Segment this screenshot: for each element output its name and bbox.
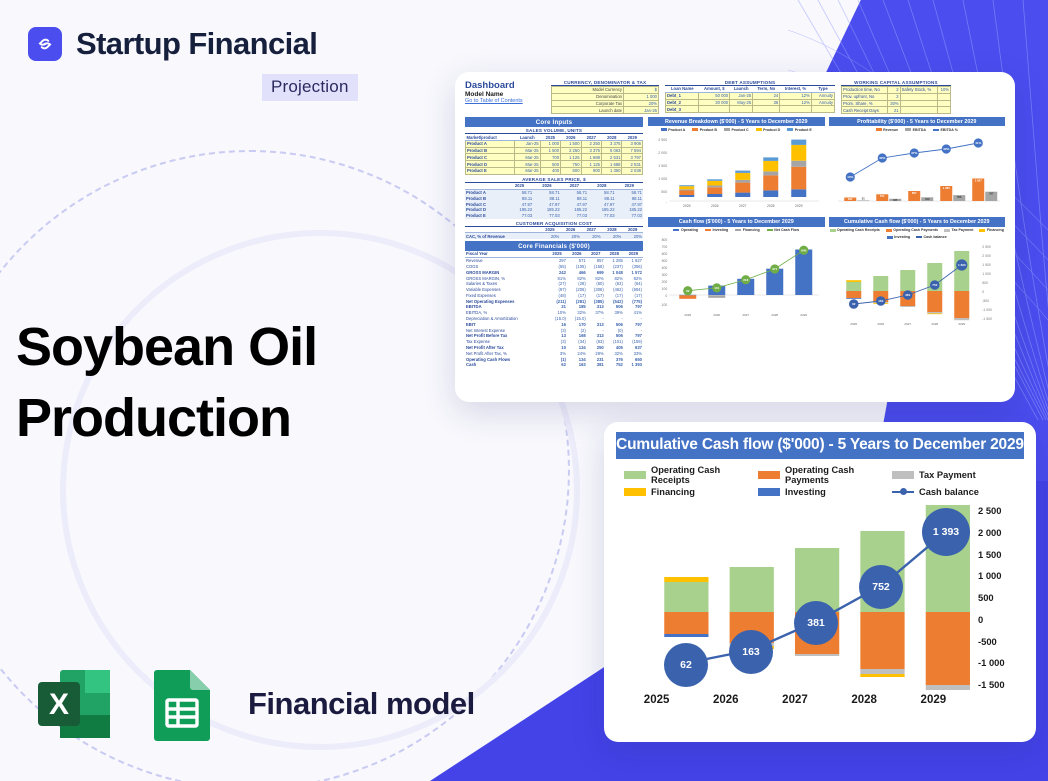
chart-legend-cumulative-cash-flow: Operating Cash Receipts Operating Cash P… bbox=[829, 227, 1006, 241]
legend-item-tax-payment: Tax Payment bbox=[892, 465, 1020, 485]
debt-cell[interactable]: Debt_1 bbox=[666, 92, 699, 99]
svg-text:2 500: 2 500 bbox=[658, 138, 667, 142]
chart-title-cumulative-cash-flow: Cumulative Cash flow ($'000) - 5 Years t… bbox=[829, 217, 1006, 226]
table-cell[interactable]: 77.03 bbox=[588, 213, 615, 219]
table-row[interactable]: CAC, % of Revenue 20% 20% 20% 20% 20% bbox=[465, 233, 643, 239]
legend-item-financing: Financing bbox=[624, 487, 752, 497]
debt-cell[interactable]: Debt_3 bbox=[666, 106, 699, 113]
table-cell[interactable]: Product B bbox=[466, 147, 515, 154]
table-cell[interactable]: 500 bbox=[540, 161, 560, 168]
table-cell[interactable]: 381 bbox=[587, 362, 605, 368]
svg-text:2026: 2026 bbox=[711, 204, 719, 208]
legend-item-cash-balance: Cash balance bbox=[892, 487, 1020, 497]
legend-label: Tax Payment bbox=[952, 228, 974, 232]
wc-row-value[interactable]: 21 bbox=[887, 107, 900, 114]
svg-text:500: 500 bbox=[661, 190, 667, 194]
wc-extra-value[interactable]: 10% bbox=[937, 87, 950, 94]
table-cell[interactable]: 1 125 bbox=[581, 161, 601, 168]
svg-text:-: - bbox=[666, 200, 668, 204]
svg-text:62: 62 bbox=[686, 288, 690, 292]
svg-text:1 393: 1 393 bbox=[957, 263, 965, 267]
cash-balance-bubble-2029: 1 393 bbox=[922, 508, 970, 556]
currency-row-value[interactable]: 20% bbox=[624, 100, 659, 107]
svg-text:700: 700 bbox=[662, 245, 668, 249]
table-cell[interactable]: 77.03 bbox=[561, 213, 588, 219]
svg-text:2027: 2027 bbox=[739, 204, 747, 208]
legend-label: Financing bbox=[987, 228, 1004, 232]
svg-text:218: 218 bbox=[743, 277, 748, 281]
google-sheets-icon bbox=[136, 660, 224, 748]
table-cell[interactable]: 750 bbox=[561, 161, 581, 168]
working-capital-table[interactable]: Production time, No2Safety Stock, %10% P… bbox=[841, 86, 951, 114]
table-cell[interactable]: 1 500 bbox=[561, 140, 581, 147]
svg-text:2029: 2029 bbox=[958, 322, 965, 326]
svg-text:10%: 10% bbox=[847, 176, 853, 180]
brand-name: Startup Financial bbox=[76, 26, 317, 62]
legend-item-operating-cash-receipts: Operating Cash Receipts bbox=[624, 465, 752, 485]
svg-text:506: 506 bbox=[957, 195, 962, 199]
core-financials-table[interactable]: Fiscal Year 2025 2026 2027 2028 2029 Rev… bbox=[465, 251, 643, 368]
chart-plot-cash-flow: 800700600 500400300 2001000-100 bbox=[648, 234, 825, 325]
currency-row-value[interactable]: 1 000 bbox=[624, 93, 659, 100]
svg-text:2 000: 2 000 bbox=[982, 254, 991, 258]
file-format-row: X Financial model bbox=[30, 660, 475, 748]
wc-extra-label: Safety Stock, % bbox=[900, 87, 937, 94]
bubble-value: 381 bbox=[807, 617, 825, 629]
debt-cell[interactable]: 12% bbox=[780, 92, 812, 99]
cac-table[interactable]: 2025 2026 2027 2028 2029 CAC, % of Reven… bbox=[465, 227, 643, 240]
currency-assumptions-table[interactable]: Model Currency$ Denomination1 000 Corpor… bbox=[551, 86, 659, 114]
chart-legend-cash-flow: Operating Investing Financing Net Cash F… bbox=[648, 227, 825, 234]
table-cell[interactable]: 752 bbox=[605, 362, 624, 368]
y-tick: 0 bbox=[978, 614, 1022, 625]
cac-label: CAC, % of Revenue bbox=[465, 233, 540, 239]
svg-text:2027: 2027 bbox=[904, 322, 911, 326]
average-price-table[interactable]: 2025 2026 2027 2028 2029 Product A58.715… bbox=[465, 183, 643, 219]
chart-title-cash-flow: Cash flow ($'000) - 5 Years to December … bbox=[648, 217, 825, 226]
table-cell[interactable]: 3 906 bbox=[622, 140, 643, 147]
page-title-line1: Soybean Oil bbox=[16, 312, 317, 383]
wc-row-label: Cash Receipt Days bbox=[842, 107, 888, 114]
x-tick: 2027 bbox=[782, 694, 808, 706]
svg-text:2025: 2025 bbox=[683, 204, 691, 208]
debt-cell[interactable]: 36 bbox=[753, 99, 780, 106]
svg-text:1 285: 1 285 bbox=[942, 186, 949, 190]
debt-cell[interactable] bbox=[699, 106, 730, 113]
wc-row-label: Prov. upfront, No bbox=[842, 93, 888, 100]
svg-text:640: 640 bbox=[801, 248, 806, 252]
table-cell[interactable]: 1 500 bbox=[540, 147, 560, 154]
x-tick: 2025 bbox=[644, 694, 670, 706]
y-tick: -1 000 bbox=[978, 657, 1022, 668]
legend-label: Cash balance bbox=[924, 235, 947, 239]
legend-label: Operating bbox=[681, 228, 698, 232]
svg-text:37%: 37% bbox=[911, 152, 917, 156]
svg-text:297: 297 bbox=[847, 197, 852, 201]
table-cell[interactable]: Product E bbox=[465, 213, 506, 219]
cac-cell[interactable]: 20% bbox=[581, 233, 602, 239]
legend-label: EBITDA % bbox=[940, 128, 957, 132]
svg-text:1 500: 1 500 bbox=[658, 164, 667, 168]
svg-text:2 500: 2 500 bbox=[982, 245, 991, 249]
svg-text:500: 500 bbox=[982, 281, 988, 285]
table-row[interactable]: Product AJan-251 0001 5002 2503 3753 906 bbox=[466, 140, 643, 147]
table-cell[interactable]: Product C bbox=[466, 154, 515, 161]
cashflow-x-axis: 2025 2026 2027 2028 2029 bbox=[622, 694, 968, 706]
table-row[interactable]: Product BMar-251 5002 2503 3755 0637 594 bbox=[466, 147, 643, 154]
table-cell[interactable]: 77.03 bbox=[506, 213, 533, 219]
currency-row-label: Corporate Tax bbox=[552, 100, 624, 107]
chart-plot-revenue-breakdown: 2 5002 0001 500 1 000500- bbox=[648, 133, 825, 214]
y-tick: -500 bbox=[978, 636, 1022, 647]
chart-plot-profitability: 10%32%37% 39%41% 297571857 1 2851 927 31… bbox=[829, 133, 1006, 214]
y-tick: -1 500 bbox=[978, 679, 1022, 690]
table-row[interactable]: Product EMar-254006009001 3502 038 bbox=[466, 168, 643, 175]
debt-cell[interactable]: 50 000 bbox=[699, 92, 730, 99]
table-cell[interactable]: 5 063 bbox=[602, 147, 622, 154]
cashflow-chart-legend: Operating Cash Receipts Operating Cash P… bbox=[616, 459, 1024, 499]
cumulative-cashflow-card[interactable]: Cumulative Cash flow ($'000) - 5 Years t… bbox=[604, 422, 1036, 742]
table-cell[interactable]: 2 531 bbox=[602, 154, 622, 161]
currency-row-label: Model Currency bbox=[552, 87, 624, 94]
x-tick: 2026 bbox=[713, 694, 739, 706]
legend-item-investing: Investing bbox=[758, 487, 886, 497]
svg-text:31: 31 bbox=[861, 197, 864, 201]
table-cell[interactable]: Cash bbox=[465, 362, 547, 368]
legend-label: Tax Payment bbox=[919, 470, 976, 480]
svg-text:2 000: 2 000 bbox=[658, 151, 667, 155]
legend-label: Cash balance bbox=[919, 487, 979, 497]
svg-text:100: 100 bbox=[662, 287, 668, 291]
table-row[interactable]: Cash621633817521 393 bbox=[465, 362, 643, 368]
table-cell[interactable]: 163 bbox=[567, 362, 587, 368]
svg-text:381: 381 bbox=[905, 293, 910, 297]
legend-label: EBITDA bbox=[913, 128, 926, 132]
svg-text:200: 200 bbox=[662, 280, 668, 284]
cac-cell[interactable]: 20% bbox=[602, 233, 623, 239]
table-cell[interactable]: 3 797 bbox=[622, 154, 643, 161]
table-cell[interactable]: 2 038 bbox=[622, 168, 643, 175]
legend-label: Product B bbox=[700, 128, 717, 132]
svg-text:X: X bbox=[49, 688, 69, 721]
svg-text:400: 400 bbox=[662, 266, 668, 270]
svg-text:300: 300 bbox=[662, 273, 668, 277]
dashboard-title: Dashboard bbox=[465, 80, 545, 91]
sales-volume-table[interactable]: Market/product Launch 2025 2026 2027 202… bbox=[465, 134, 643, 175]
cash-balance-bubble-2028: 752 bbox=[859, 565, 903, 609]
table-cell[interactable]: 2 250 bbox=[561, 147, 581, 154]
currency-row-value[interactable]: Jan-25 bbox=[624, 107, 659, 114]
svg-text:2025: 2025 bbox=[850, 322, 857, 326]
legend-label: Product A bbox=[668, 128, 685, 132]
table-cell[interactable]: 1 125 bbox=[561, 154, 581, 161]
table-cell[interactable]: Product A bbox=[466, 140, 515, 147]
table-cell[interactable]: 700 bbox=[540, 154, 560, 161]
svg-text:571: 571 bbox=[879, 194, 884, 198]
svg-text:2027: 2027 bbox=[742, 313, 749, 317]
chart-legend-revenue-breakdown: Product A Product B Product C Product D … bbox=[648, 126, 825, 133]
page-title-line2: Production bbox=[16, 383, 317, 454]
core-inputs-band: Core Inputs bbox=[465, 117, 643, 127]
debt-cell[interactable]: Annuity bbox=[811, 92, 834, 99]
svg-text:2028: 2028 bbox=[931, 322, 938, 326]
table-row[interactable]: Product CMar-257001 1251 6882 5313 797 bbox=[466, 154, 643, 161]
table-row[interactable]: Product DMar-255007501 1251 6882 531 bbox=[466, 161, 643, 168]
chart-title-revenue-breakdown: Revenue Breakdown ($'000) - 5 Years to D… bbox=[648, 117, 825, 126]
table-cell[interactable]: Mar-25 bbox=[514, 154, 540, 161]
svg-text:39%: 39% bbox=[943, 148, 949, 152]
table-row[interactable]: Debt_1 50 000 Jan-25 24 12% Annuity bbox=[666, 92, 835, 99]
svg-text:163: 163 bbox=[878, 299, 883, 303]
table-cell[interactable]: 1 393 bbox=[624, 362, 643, 368]
table-cell[interactable]: 62 bbox=[547, 362, 567, 368]
legend-label: Operating Cash Payments bbox=[785, 465, 886, 485]
wc-row-label: Prom. Share, % bbox=[842, 100, 888, 107]
legend-label: Net Cash Flow bbox=[774, 228, 799, 232]
svg-text:-100: -100 bbox=[660, 303, 667, 307]
svg-text:2028: 2028 bbox=[767, 204, 775, 208]
cac-cell[interactable]: 20% bbox=[560, 233, 581, 239]
page-title: Soybean Oil Production bbox=[16, 312, 317, 455]
wc-row-value[interactable]: 30% bbox=[887, 100, 900, 107]
debt-cell[interactable] bbox=[811, 106, 834, 113]
svg-text:857: 857 bbox=[911, 191, 916, 195]
y-tick: 2 500 bbox=[978, 505, 1022, 516]
svg-text:1 927: 1 927 bbox=[974, 179, 981, 183]
svg-text:371: 371 bbox=[772, 267, 777, 271]
legend-label: Operating Cash Receipts bbox=[837, 228, 880, 232]
debt-cell[interactable] bbox=[780, 106, 812, 113]
table-cell[interactable]: 3 375 bbox=[581, 147, 601, 154]
bubble-value: 163 bbox=[742, 646, 760, 658]
table-cell[interactable]: 600 bbox=[561, 168, 581, 175]
svg-text:2029: 2029 bbox=[795, 204, 803, 208]
table-cell[interactable]: 2 531 bbox=[622, 161, 643, 168]
debt-cell[interactable]: 30 000 bbox=[699, 99, 730, 106]
svg-text:62: 62 bbox=[852, 302, 856, 306]
chart-legend-profitability: Revenue EBITDA EBITDA % bbox=[829, 126, 1006, 133]
legend-label: Operating Cash Payments bbox=[893, 228, 938, 232]
chart-title-profitability: Profitability ($'000) - 5 Years to Decem… bbox=[829, 117, 1006, 126]
legend-label: Product E bbox=[795, 128, 812, 132]
table-row[interactable]: Debt_2 30 000 May-25 36 12% Annuity bbox=[666, 99, 835, 106]
cac-cell[interactable]: 20% bbox=[622, 233, 643, 239]
debt-cell[interactable]: Debt_2 bbox=[666, 99, 699, 106]
table-cell[interactable]: 1 688 bbox=[602, 161, 622, 168]
svg-text:0: 0 bbox=[665, 294, 667, 298]
legend-label: Investing bbox=[894, 235, 910, 239]
svg-text:1 000: 1 000 bbox=[982, 272, 991, 276]
svg-text:101: 101 bbox=[714, 286, 719, 290]
table-cell[interactable]: Product D bbox=[466, 161, 515, 168]
file-format-label: Financial model bbox=[248, 686, 475, 722]
bubble-value: 752 bbox=[872, 581, 890, 593]
wc-row-value[interactable]: 2 bbox=[887, 87, 900, 94]
table-cell[interactable]: 900 bbox=[581, 168, 601, 175]
legend-label: Financing bbox=[743, 228, 760, 232]
legend-label: Revenue bbox=[883, 128, 898, 132]
brand-logo: Startup Financial bbox=[28, 26, 317, 62]
table-cell[interactable]: 3 375 bbox=[602, 140, 622, 147]
table-cell[interactable]: Mar-25 bbox=[514, 147, 540, 154]
legend-item-operating-cash-payments: Operating Cash Payments bbox=[758, 465, 886, 485]
debt-assumptions-table[interactable]: Loan Name Amount, $ Launch Term, No Inte… bbox=[665, 86, 835, 113]
table-cell[interactable]: Mar-25 bbox=[514, 168, 540, 175]
legend-label: Product C bbox=[731, 128, 748, 132]
table-cell[interactable]: 77.03 bbox=[616, 213, 643, 219]
table-cell[interactable]: Mar-25 bbox=[514, 161, 540, 168]
toc-link[interactable]: Go to Table of Contents bbox=[465, 98, 545, 104]
svg-text:-500: -500 bbox=[982, 299, 989, 303]
table-cell[interactable]: 1 350 bbox=[602, 168, 622, 175]
excel-icon: X bbox=[30, 660, 118, 748]
debt-cell[interactable]: Annuity bbox=[811, 99, 834, 106]
table-cell[interactable]: 400 bbox=[540, 168, 560, 175]
currency-row-label: Denomination bbox=[552, 93, 624, 100]
bubble-value: 1 393 bbox=[933, 526, 959, 538]
svg-text:2025: 2025 bbox=[684, 313, 691, 317]
svg-text:2029: 2029 bbox=[800, 313, 807, 317]
svg-text:313: 313 bbox=[925, 197, 930, 201]
chart-plot-cumulative-cash-flow: 2 5002 0001 500 1 0005000 -500-1 000-1 5… bbox=[829, 241, 1006, 332]
svg-text:500: 500 bbox=[662, 259, 668, 263]
svg-text:800: 800 bbox=[662, 238, 668, 242]
dashboard-preview-card[interactable]: Dashboard Model Name Go to Table of Cont… bbox=[455, 72, 1015, 402]
svg-text:1 000: 1 000 bbox=[658, 177, 667, 181]
cashflow-chart-title: Cumulative Cash flow ($'000) - 5 Years t… bbox=[616, 432, 1024, 459]
svg-text:1 500: 1 500 bbox=[982, 263, 991, 267]
table-cell[interactable]: 1 688 bbox=[581, 154, 601, 161]
table-row[interactable]: Debt_3 bbox=[666, 106, 835, 113]
svg-text:185: 185 bbox=[893, 199, 898, 203]
debt-cell[interactable]: 12% bbox=[780, 99, 812, 106]
legend-label: Operating Cash Receipts bbox=[651, 465, 752, 485]
svg-text:-1 500: -1 500 bbox=[982, 317, 992, 321]
cashflow-plot-area: 62 163 381 752 1 393 2 500 2 000 1 500 1… bbox=[622, 505, 1022, 690]
svg-text:32%: 32% bbox=[879, 157, 885, 161]
legend-label: Financing bbox=[651, 487, 695, 497]
table-cell[interactable]: 77.03 bbox=[533, 213, 560, 219]
table-cell[interactable]: Jan-25 bbox=[514, 140, 540, 147]
legend-label: Investing bbox=[712, 228, 728, 232]
svg-text:0: 0 bbox=[982, 290, 984, 294]
cac-cell[interactable]: 20% bbox=[540, 233, 561, 239]
table-cell[interactable]: 2 250 bbox=[581, 140, 601, 147]
cash-balance-bubble-2025: 62 bbox=[664, 643, 708, 687]
currency-row-label: Launch date bbox=[552, 107, 624, 114]
core-financials-band: Core Financials ($'000) bbox=[465, 241, 643, 251]
debt-cell[interactable]: 24 bbox=[753, 92, 780, 99]
cash-balance-bubble-2026: 163 bbox=[729, 630, 773, 674]
currency-row-value[interactable]: $ bbox=[624, 87, 659, 94]
table-row[interactable]: Product E77.0377.0377.0377.0377.03 bbox=[465, 213, 643, 219]
svg-text:600: 600 bbox=[662, 252, 668, 256]
table-cell[interactable]: 1 000 bbox=[540, 140, 560, 147]
y-tick: 2 000 bbox=[978, 527, 1022, 538]
dashboard-model-name: Model Name bbox=[465, 91, 545, 98]
wc-row-label: Production time, No bbox=[842, 87, 888, 94]
svg-text:752: 752 bbox=[932, 283, 937, 287]
y-tick: 1 000 bbox=[978, 570, 1022, 581]
svg-text:2026: 2026 bbox=[713, 313, 720, 317]
poster-canvas: Startup Financial Projection Soybean Oil… bbox=[0, 0, 1048, 781]
cash-balance-bubble-2027: 381 bbox=[794, 601, 838, 645]
svg-text:41%: 41% bbox=[975, 142, 981, 146]
svg-text:-1 000: -1 000 bbox=[982, 308, 992, 312]
debt-cell[interactable] bbox=[753, 106, 780, 113]
debt-cell[interactable] bbox=[730, 106, 753, 113]
brand-subtitle: Projection bbox=[262, 74, 358, 101]
y-tick: 1 500 bbox=[978, 549, 1022, 560]
x-tick: 2029 bbox=[921, 694, 947, 706]
debt-cell[interactable]: May-25 bbox=[730, 99, 753, 106]
x-tick: 2028 bbox=[851, 694, 877, 706]
bubble-value: 62 bbox=[680, 659, 692, 671]
legend-label: Product D bbox=[763, 128, 780, 132]
swirl-logo-icon bbox=[28, 27, 62, 61]
cashflow-y-axis: 2 500 2 000 1 500 1 000 500 0 -500 -1 00… bbox=[970, 505, 1022, 690]
svg-text:797: 797 bbox=[989, 192, 994, 196]
svg-text:2028: 2028 bbox=[771, 313, 778, 317]
debt-cell[interactable]: Jan-25 bbox=[730, 92, 753, 99]
y-tick: 500 bbox=[978, 592, 1022, 603]
table-cell[interactable]: 7 594 bbox=[622, 147, 643, 154]
wc-row-value[interactable]: 2 bbox=[887, 93, 900, 100]
svg-text:2026: 2026 bbox=[877, 322, 884, 326]
table-cell[interactable]: Product E bbox=[466, 168, 515, 175]
legend-label: Investing bbox=[785, 487, 826, 497]
